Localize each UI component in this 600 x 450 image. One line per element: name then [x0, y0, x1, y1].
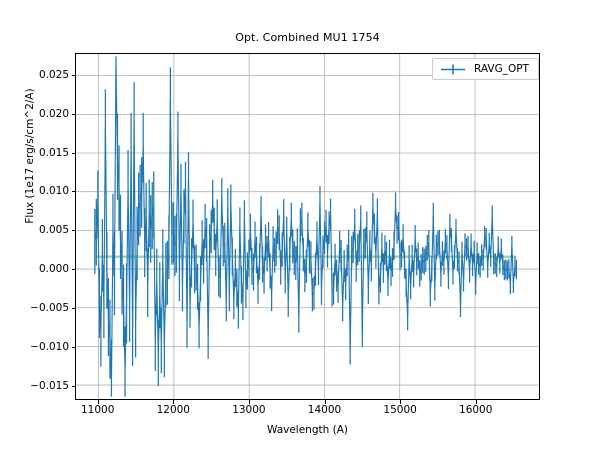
x-tick-mark — [400, 400, 401, 404]
spectrum-data — [76, 54, 539, 399]
y-tick-label: −0.005 — [13, 302, 69, 314]
matplotlib-figure: Opt. Combined MU1 1754 −0.015−0.010−0.00… — [0, 0, 600, 450]
x-tick-label: 14000 — [290, 404, 360, 416]
legend-item-label: RAVG_OPT — [474, 63, 529, 75]
y-tick-label: 0.000 — [13, 263, 69, 275]
y-tick-label: −0.015 — [13, 380, 69, 392]
y-tick-label: 0.025 — [13, 69, 69, 81]
x-tick-mark — [249, 400, 250, 404]
legend[interactable]: RAVG_OPT — [432, 58, 539, 80]
y-axis-tick-labels: −0.015−0.010−0.0050.0000.0050.0100.0150.… — [9, 53, 69, 400]
x-tick-label: 11000 — [63, 404, 133, 416]
y-tick-label: −0.010 — [13, 341, 69, 353]
y-tick-label: 0.020 — [13, 108, 69, 120]
x-axis-tick-marks — [75, 400, 540, 404]
legend-errorbar-icon — [440, 64, 466, 75]
x-tick-mark — [173, 400, 174, 404]
x-tick-label: 16000 — [441, 404, 511, 416]
page-title: Opt. Combined MU1 1754 — [75, 31, 540, 44]
y-tick-label: 0.005 — [13, 224, 69, 236]
x-tick-mark — [325, 400, 326, 404]
x-tick-mark — [476, 400, 477, 404]
x-tick-label: 13000 — [214, 404, 284, 416]
y-tick-label: 0.015 — [13, 147, 69, 159]
x-tick-mark — [98, 400, 99, 404]
x-axis-label: Wavelength (A) — [75, 424, 540, 436]
x-tick-label: 15000 — [365, 404, 435, 416]
y-tick-label: 0.010 — [13, 185, 69, 197]
spectrum-line — [95, 66, 517, 379]
x-axis-tick-labels: 110001200013000140001500016000 — [75, 404, 540, 420]
y-axis-label: Flux (1e17 erg/s/cm^2/A) — [24, 66, 36, 246]
plot-axes — [75, 53, 540, 400]
x-tick-label: 12000 — [138, 404, 208, 416]
